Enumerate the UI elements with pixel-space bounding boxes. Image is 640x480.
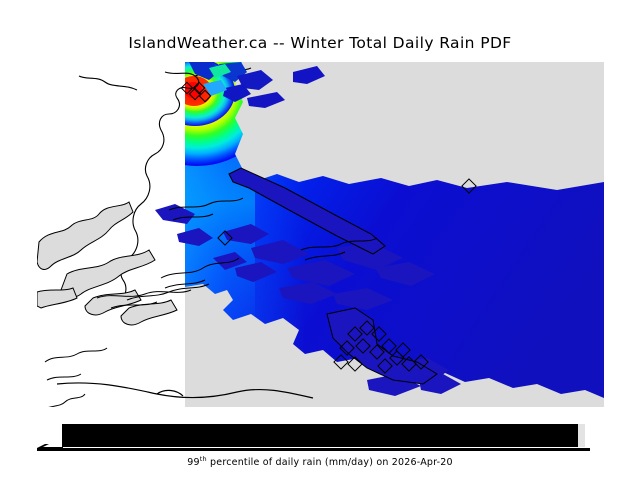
map-panel: [37, 62, 604, 407]
colorbar-overflow-swatch: [578, 424, 585, 447]
colorbar: [37, 420, 604, 454]
caption-percentile-suffix: th: [200, 455, 207, 463]
caption-description: percentile of daily rain (mm/day) on 202…: [207, 457, 453, 468]
rain-pdf-map: [37, 62, 604, 407]
page-title: IslandWeather.ca -- Winter Total Daily R…: [0, 34, 640, 52]
colorbar-min-arrow-icon: [37, 444, 63, 451]
colorbar-axis-line: [37, 448, 590, 451]
colorbar-gradient: [62, 424, 578, 447]
figure-caption: 99th percentile of daily rain (mm/day) o…: [0, 457, 640, 468]
caption-percentile-number: 99: [187, 457, 200, 468]
figure-canvas: IslandWeather.ca -- Winter Total Daily R…: [0, 0, 640, 480]
